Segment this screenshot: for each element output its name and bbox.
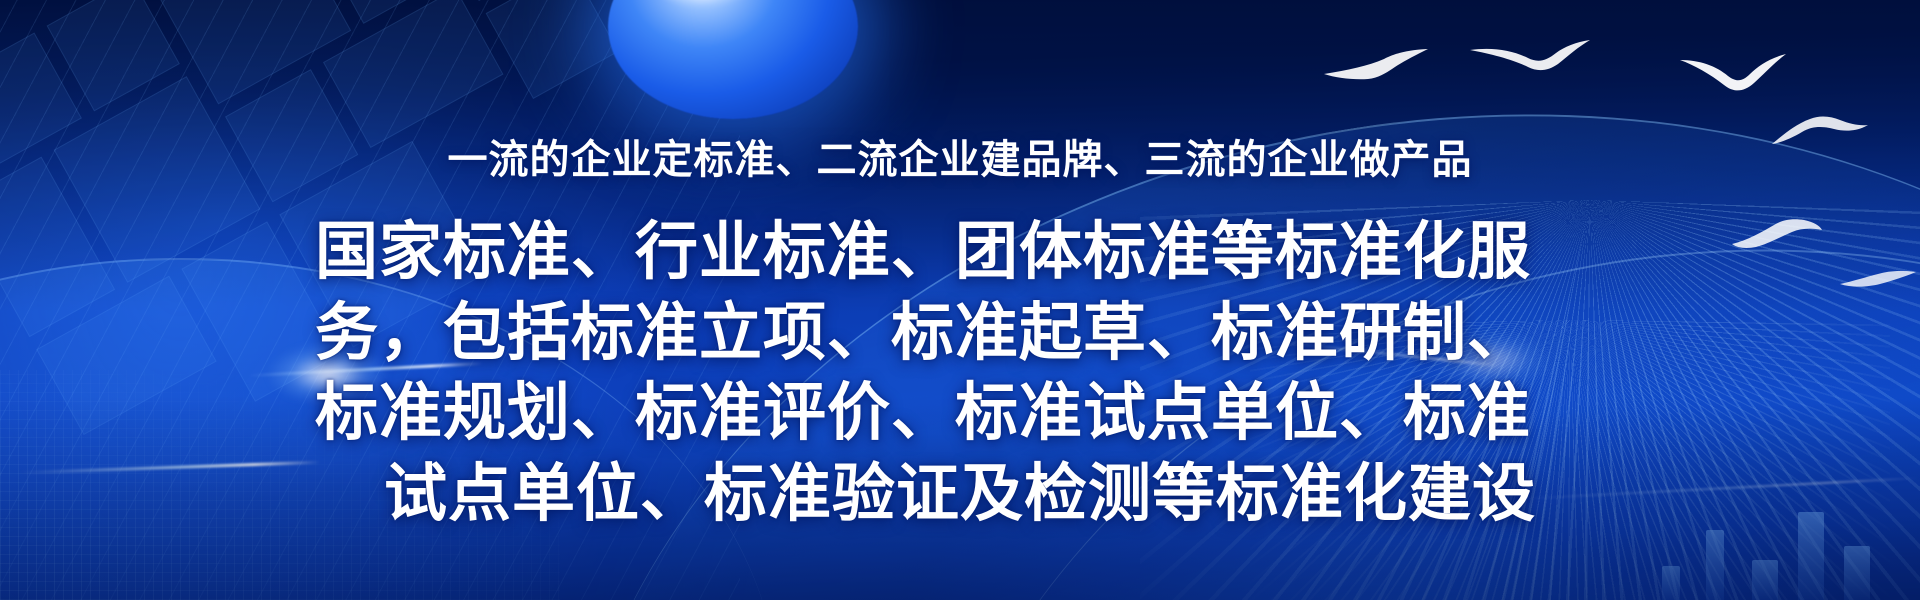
headline-line-4: 试点单位、标准验证及检测等标准化建设 [315,454,1605,535]
banner-tagline: 一流的企业定标准、二流企业建品牌、三流的企业做产品 [0,138,1920,182]
banner-text-block: 一流的企业定标准、二流企业建品牌、三流的企业做产品 国家标准、行业标准、团体标准… [0,0,1920,535]
headline-line-3: 标准规划、标准评价、标准试点单位、标准 [315,373,1605,454]
banner-headline: 国家标准、行业标准、团体标准等标准化服 务，包括标准立项、标准起草、标准研制、 … [315,212,1605,535]
hero-banner: 一流的企业定标准、二流企业建品牌、三流的企业做产品 国家标准、行业标准、团体标准… [0,0,1920,600]
headline-line-2: 务，包括标准立项、标准起草、标准研制、 [315,293,1605,374]
headline-line-1: 国家标准、行业标准、团体标准等标准化服 [315,212,1605,293]
